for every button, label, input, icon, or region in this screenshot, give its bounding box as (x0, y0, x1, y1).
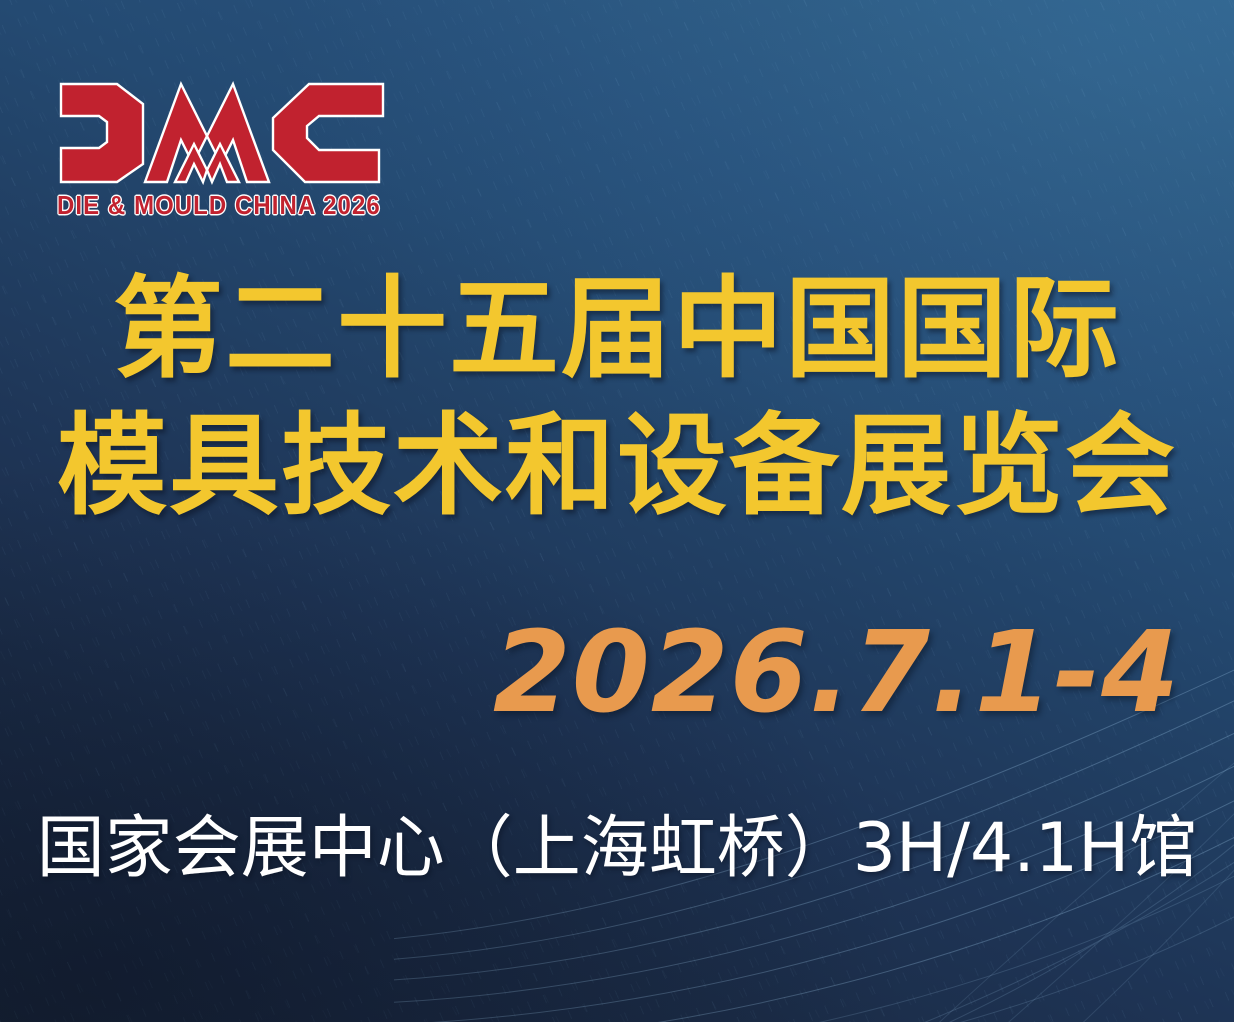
dmc-logo: DIE & MOULD CHINA 2026 (57, 78, 413, 221)
headline-line-2: 模具技术和设备展览会 (0, 405, 1234, 528)
event-poster: DIE & MOULD CHINA 2026 第二十五届中国国际 模具技术和设备… (0, 0, 1234, 1022)
logo-subtitle: DIE & MOULD CHINA 2026 (57, 190, 385, 221)
headline-line-1: 第二十五届中国国际 (0, 268, 1234, 391)
dmc-wordmark-icon (57, 78, 387, 186)
event-date: 2026.7.1-4 (0, 608, 1180, 738)
arc-sweep-svg (394, 522, 1234, 1022)
headline-block: 第二十五届中国国际 模具技术和设备展览会 (0, 268, 1234, 528)
event-venue: 国家会展中心（上海虹桥）3H/4.1H馆 (0, 792, 1234, 891)
